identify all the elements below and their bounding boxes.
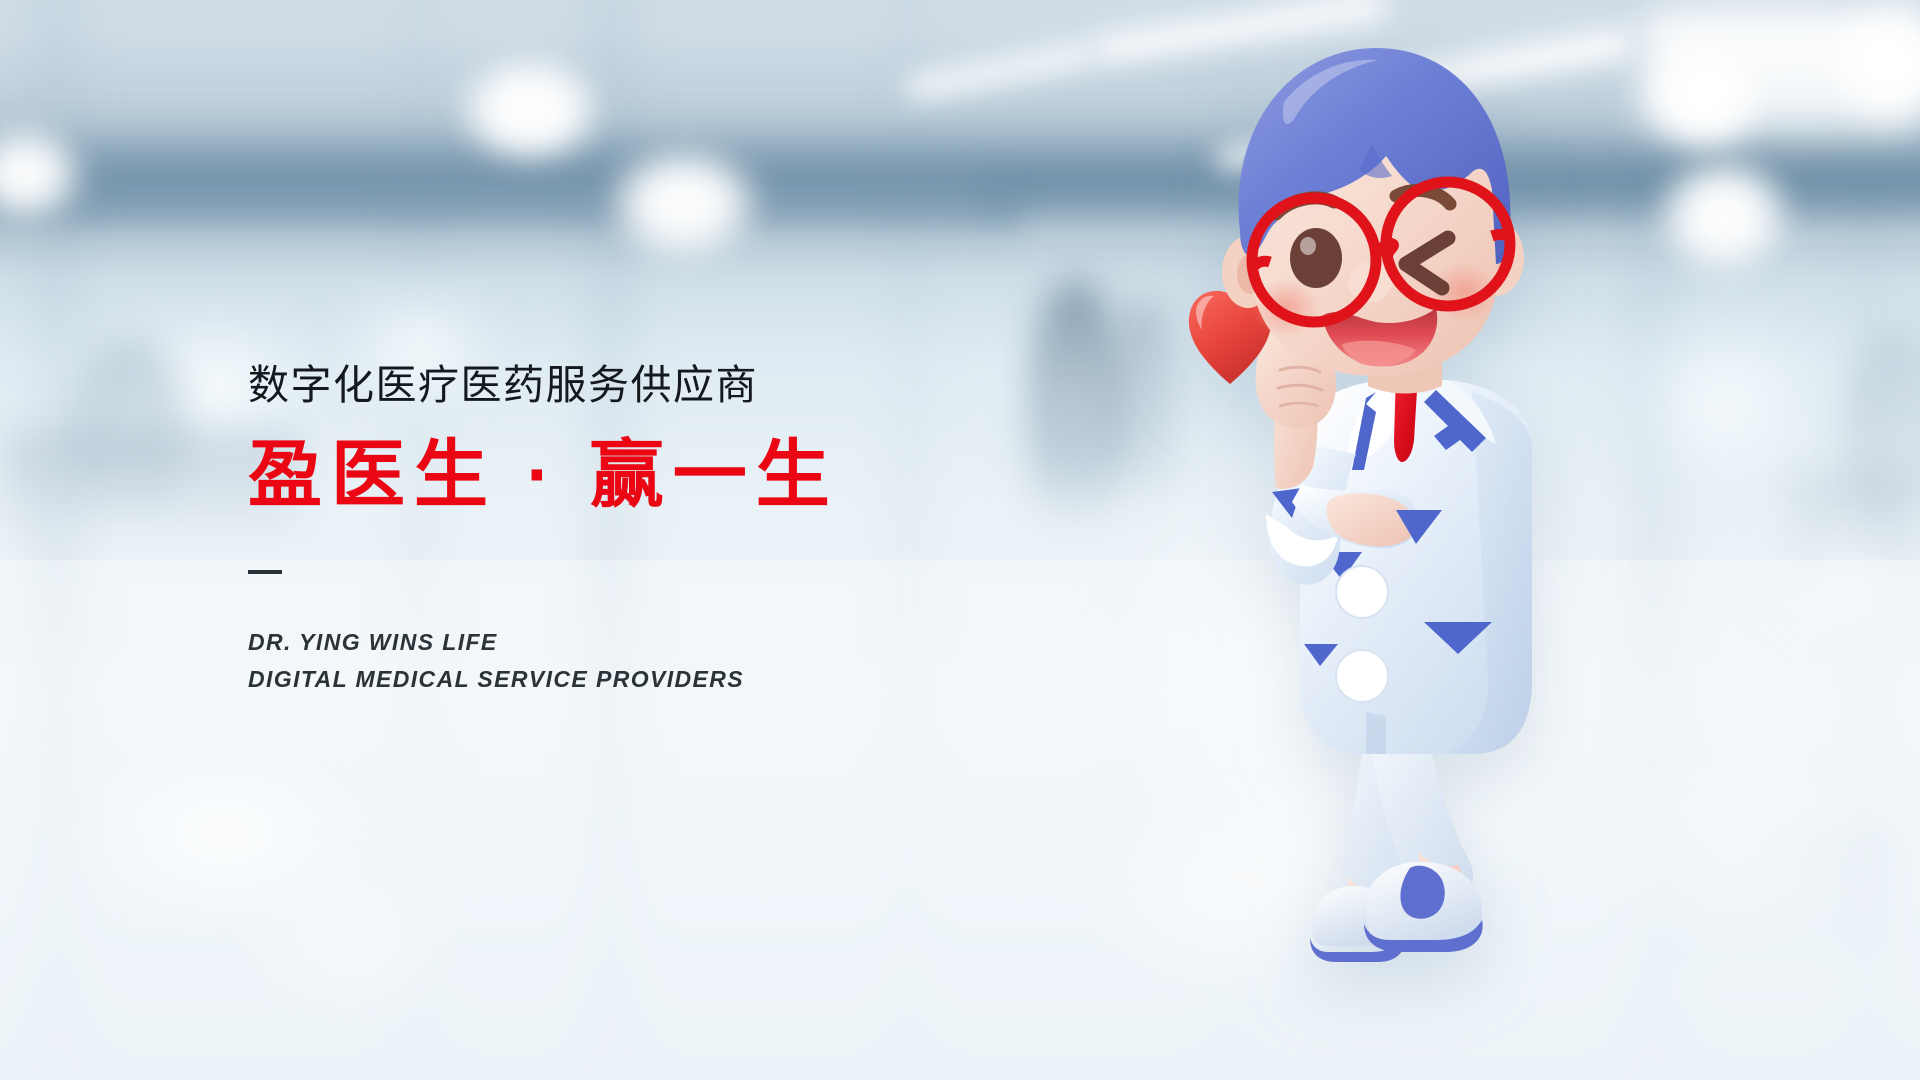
eye-open-left — [1290, 228, 1342, 288]
english-tagline-secondary: DIGITAL MEDICAL SERVICE PROVIDERS — [248, 661, 1008, 698]
temple-right — [1492, 235, 1510, 237]
bokeh-light — [452, 50, 608, 170]
page-headline: 数字化医疗医药服务供应商 — [248, 360, 1008, 410]
coat-hem-split — [1366, 712, 1386, 754]
bokeh-light — [600, 140, 768, 266]
page-title: 盈医生 · 赢一生 — [248, 432, 1008, 518]
banner-stage: 数字化医疗医药服务供应商 盈医生 · 赢一生 DR. YING WINS LIF… — [0, 0, 1920, 1080]
bokeh-light — [1650, 150, 1798, 280]
doctor-mascot — [1180, 40, 1640, 1060]
coat-button-upper — [1336, 566, 1388, 618]
ceiling-beam-left — [0, 196, 1020, 248]
floor-reflection — [250, 860, 450, 1010]
bokeh-light — [1640, 36, 1770, 158]
english-tagline-primary: DR. YING WINS LIFE — [248, 624, 1008, 661]
copy-block: 数字化医疗医药服务供应商 盈医生 · 赢一生 DR. YING WINS LIF… — [248, 360, 1008, 698]
eye-highlight-left — [1300, 237, 1316, 255]
coat-button-lower — [1336, 650, 1388, 702]
divider-rule — [248, 570, 282, 574]
head-group — [1222, 48, 1524, 376]
legs-group — [1310, 730, 1483, 962]
